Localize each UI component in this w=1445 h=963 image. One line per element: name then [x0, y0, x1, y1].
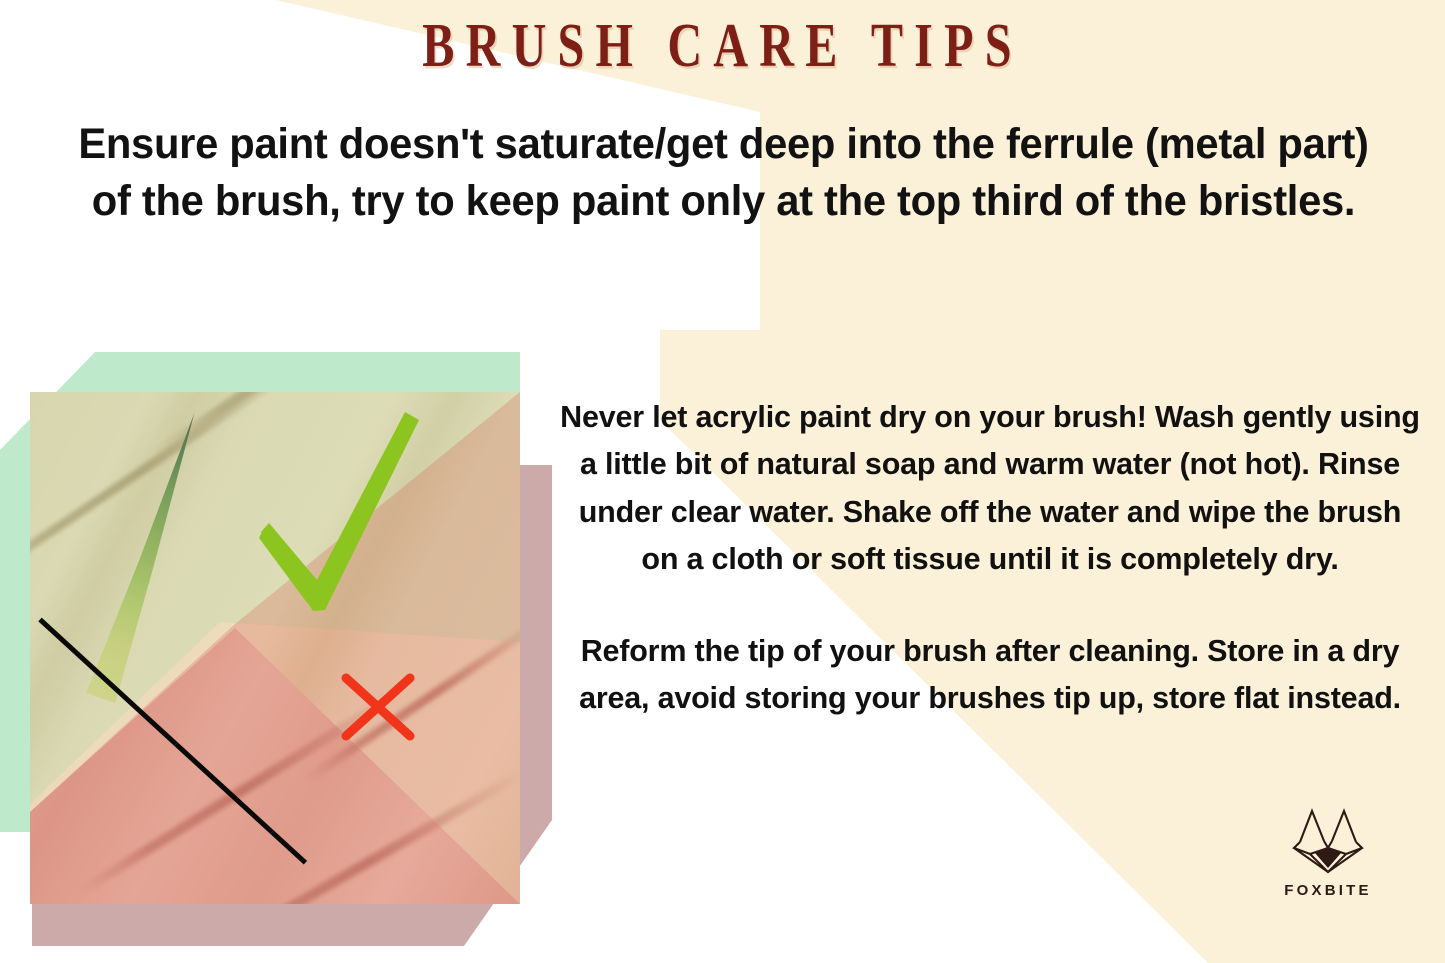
- body-copy-column: Never let acrylic paint dry on your brus…: [560, 394, 1420, 723]
- headline-text: Ensure paint doesn't saturate/get deep i…: [66, 116, 1380, 230]
- brush-photograph: [30, 392, 520, 904]
- fox-head-icon: [1290, 808, 1366, 874]
- body-paragraph-1: Never let acrylic paint dry on your brus…: [560, 394, 1420, 584]
- cross-icon: [340, 670, 416, 746]
- brush-photo-block: [0, 352, 552, 946]
- brand-wordmark: FOXBITE: [1278, 882, 1378, 899]
- checkmark-icon: [255, 404, 425, 619]
- page-title: BRUSH CARE TIPS: [101, 10, 1344, 82]
- page-title-container: BRUSH CARE TIPS: [0, 14, 1445, 78]
- brand-logo: FOXBITE: [1278, 808, 1378, 899]
- body-paragraph-2: Reform the tip of your brush after clean…: [560, 628, 1420, 723]
- infographic-canvas: BRUSH CARE TIPS Ensure paint doesn't sat…: [0, 0, 1445, 963]
